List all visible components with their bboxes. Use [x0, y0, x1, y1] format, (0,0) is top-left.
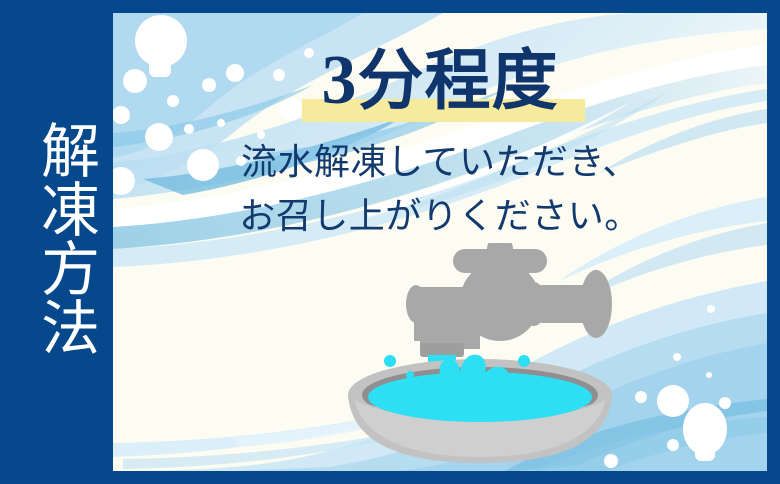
- headline-number: 3: [322, 42, 358, 119]
- headline-suffix: 分程度: [358, 45, 559, 118]
- body-copy: 流水解凍していただき、 お召し上がりください。: [113, 135, 767, 243]
- body-line-1: 流水解凍していただき、: [113, 135, 767, 189]
- vertical-title: 解凍方法: [18, 108, 96, 368]
- faucet-bowl-illustration: [328, 243, 658, 463]
- poster-canvas: 解凍方法: [0, 0, 780, 484]
- water-droplet-icon: [384, 355, 396, 367]
- headline-text: 3分程度: [113, 35, 767, 128]
- body-line-2: お召し上がりください。: [113, 189, 767, 243]
- headline-block: 3分程度: [113, 35, 767, 127]
- water-droplet-icon: [406, 371, 414, 379]
- water-droplet-icon: [518, 355, 530, 367]
- content-panel: 3分程度 流水解凍していただき、 お召し上がりください。: [113, 13, 767, 471]
